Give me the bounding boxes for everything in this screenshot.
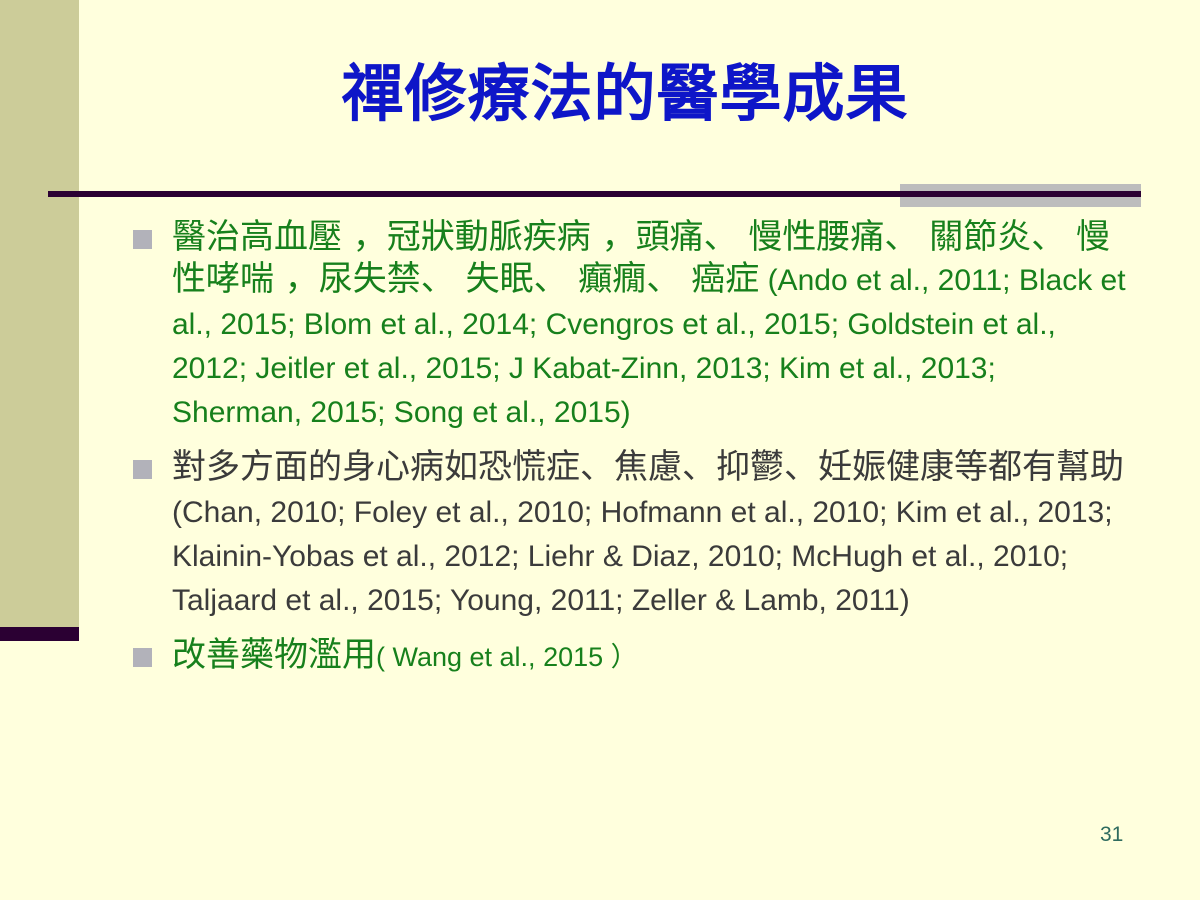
bullet-item: 醫治高血壓 ，冠狀動脈疾病 ，頭痛、 慢性腰痛、 關節炎、 慢性哮喘 ，尿失禁、…	[133, 216, 1133, 434]
page-number: 31	[1100, 823, 1123, 847]
square-bullet-icon	[133, 460, 152, 479]
slide-canvas: 禪修療法的醫學成果 醫治高血壓 ，冠狀動脈疾病 ，頭痛、 慢性腰痛、 關節炎、 …	[0, 0, 1200, 900]
bullet-citation-3: ( Wang et al., 2015 ）	[376, 642, 638, 672]
bullet-item: 改善藥物濫用( Wang et al., 2015 ）	[133, 634, 1133, 678]
bullet-citation-2: (Chan, 2010; Foley et al., 2010; Hofmann…	[172, 496, 1113, 617]
slide-title: 禪修療法的醫學成果	[80, 58, 1170, 129]
bullet-text-3: 改善藥物濫用( Wang et al., 2015 ）	[172, 634, 1133, 678]
bullet-item: 對多方面的身心病如恐慌症、焦慮、抑鬱、妊娠健康等都有幫助 (Chan, 2010…	[133, 446, 1133, 622]
square-bullet-icon	[133, 230, 152, 249]
decorative-left-band	[0, 0, 79, 627]
slide-body: 醫治高血壓 ，冠狀動脈疾病 ，頭痛、 慢性腰痛、 關節炎、 慢性哮喘 ，尿失禁、…	[133, 216, 1133, 690]
bullet-lead-2: 對多方面的身心病如恐慌症、焦慮、抑鬱、妊娠健康等都有幫助	[172, 447, 1124, 487]
header-divider-rule	[48, 191, 1141, 197]
bullet-lead-3: 改善藥物濫用	[172, 635, 376, 675]
bullet-text-2: 對多方面的身心病如恐慌症、焦慮、抑鬱、妊娠健康等都有幫助 (Chan, 2010…	[172, 446, 1133, 622]
decorative-left-band-footer	[0, 627, 79, 641]
bullet-text-1: 醫治高血壓 ，冠狀動脈疾病 ，頭痛、 慢性腰痛、 關節炎、 慢性哮喘 ，尿失禁、…	[172, 216, 1133, 434]
square-bullet-icon	[133, 648, 152, 667]
